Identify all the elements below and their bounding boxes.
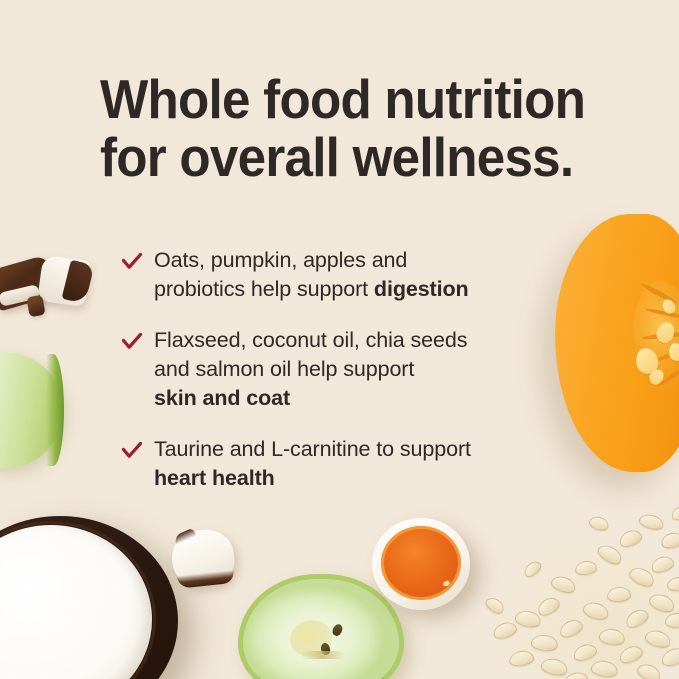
- coconut-shell-rim: [0, 521, 156, 679]
- check-icon: [122, 442, 142, 464]
- list-item-text: Oats, pumpkin, apples and probiotics hel…: [154, 246, 469, 304]
- apple-wedge-photo: [0, 352, 62, 468]
- coconut-chunk-rim-top: [173, 528, 197, 545]
- rolled-oats-photo: [479, 503, 679, 679]
- list-item: Taurine and L-carnitine to support heart…: [122, 435, 574, 493]
- bullet-3-line-1: Taurine and L-carnitine to support: [154, 435, 471, 464]
- coconut-shell-crumb: [26, 295, 45, 317]
- oil-surface: [381, 526, 461, 600]
- oat-flake: [649, 554, 676, 575]
- oil-bowl-photo: [372, 518, 470, 610]
- coconut-chunk-photo: [169, 527, 237, 589]
- list-item-text: Flaxseed, coconut oil, chia seeds and sa…: [154, 326, 467, 413]
- apple-skin: [46, 354, 64, 466]
- oat-flake: [638, 512, 666, 532]
- list-item: Flaxseed, coconut oil, chia seeds and sa…: [122, 326, 574, 413]
- bullet-2-line-2: and salmon oil help support: [154, 355, 467, 384]
- benefits-list: Oats, pumpkin, apples and probiotics hel…: [122, 246, 574, 515]
- headline-line-2: for overall wellness.: [100, 128, 565, 186]
- coconut-shell-husk: [62, 260, 95, 305]
- apple-seed-line: [301, 651, 345, 659]
- oat-flake: [660, 531, 679, 551]
- bullet-2-line-1: Flaxseed, coconut oil, chia seeds: [154, 326, 467, 355]
- list-item-text: Taurine and L-carnitine to support heart…: [154, 435, 471, 493]
- oat-flake: [587, 514, 610, 533]
- bullet-1-line-2-normal: probiotics help support: [154, 277, 374, 301]
- bullet-1-line-2-bold: digestion: [374, 277, 469, 301]
- bullet-2-line-3: skin and coat: [154, 384, 467, 413]
- headline-line-1: Whole food nutrition: [100, 70, 565, 128]
- check-icon: [122, 253, 142, 275]
- coconut-half-photo: [0, 516, 178, 679]
- bullet-1-line-2: probiotics help support digestion: [154, 275, 469, 304]
- list-item: Oats, pumpkin, apples and probiotics hel…: [122, 246, 574, 304]
- bullet-3-line-2: heart health: [154, 464, 471, 493]
- bullet-1-line-1: Oats, pumpkin, apples and: [154, 246, 469, 275]
- coconut-shell-piece-right: [37, 255, 91, 307]
- marketing-banner: Whole food nutrition for overall wellnes…: [0, 0, 679, 679]
- check-icon: [122, 333, 142, 355]
- apple-half-photo: [238, 574, 404, 679]
- oat-flake: [669, 503, 679, 522]
- page-headline: Whole food nutrition for overall wellnes…: [100, 70, 565, 186]
- coconut-chunk-rim: [177, 570, 235, 589]
